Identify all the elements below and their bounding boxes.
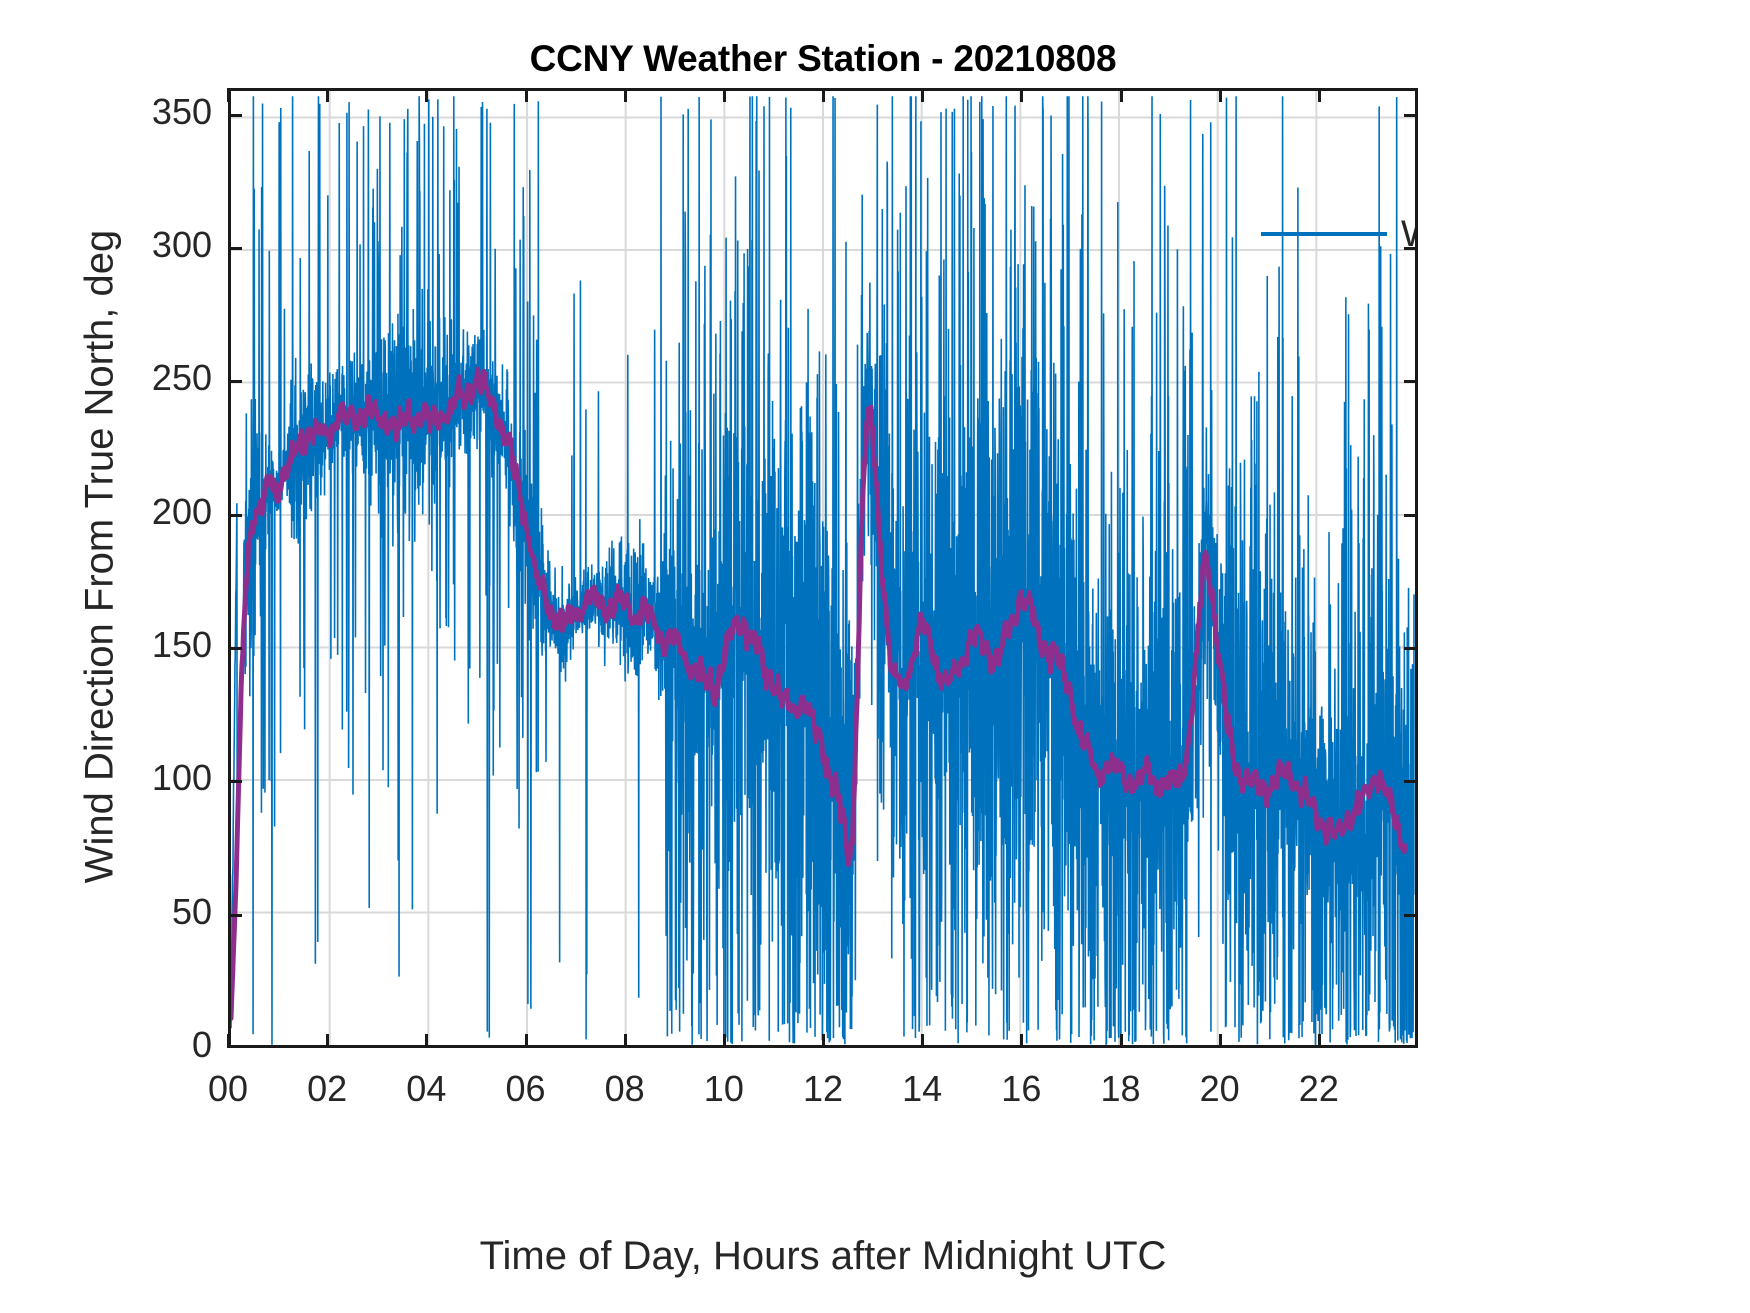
data-layer [231,91,1415,1045]
y-tickmark [228,114,242,117]
y-tickmark [228,514,242,517]
x-tickmark [624,1034,627,1048]
y-tickmark [228,247,242,250]
x-tickmark [822,1034,825,1048]
x-tickmark-top [326,88,329,102]
chart-figure: CCNY Weather Station - 20210808 Wind Dir… [0,0,1750,1313]
x-tickmark-top [1020,88,1023,102]
y-tickmark [228,780,242,783]
y-tickmark-right [1404,114,1418,117]
y-tickmark-right [1404,780,1418,783]
y-tickmark-right [1404,647,1418,650]
x-tick-label: 22 [1259,1068,1379,1110]
y-tickmark-right [1404,380,1418,383]
x-tickmark [723,1034,726,1048]
x-tickmark-top [723,88,726,102]
x-tickmark-top [1120,88,1123,102]
page-title: CCNY Weather Station - 20210808 [228,38,1418,80]
x-tickmark-top [525,88,528,102]
x-tickmark-top [1219,88,1222,102]
y-tickmark-right [1404,914,1418,917]
plot-area: Wind Direction [228,88,1418,1048]
x-tickmark-top [921,88,924,102]
x-tickmark-top [1318,88,1321,102]
y-tickmark-right [1404,514,1418,517]
x-tickmark [1120,1034,1123,1048]
x-tickmark [525,1034,528,1048]
y-tickmark [228,914,242,917]
x-tickmark [1219,1034,1222,1048]
x-tickmark [1020,1034,1023,1048]
x-axis-label: Time of Day, Hours after Midnight UTC [228,1234,1418,1279]
x-tickmark [1318,1034,1321,1048]
y-tickmark-right [1404,247,1418,250]
x-tickmark [425,1034,428,1048]
y-axis-label: Wind Direction From True North, deg [78,77,123,1037]
x-tickmark [326,1034,329,1048]
x-tickmark-top [425,88,428,102]
x-tickmark-top [227,88,230,102]
y-tickmark [228,647,242,650]
y-tickmark [228,380,242,383]
x-tickmark [227,1034,230,1048]
x-tickmark-top [624,88,627,102]
x-tickmark [921,1034,924,1048]
x-tickmark-top [822,88,825,102]
legend-swatch-wind-direction [1261,232,1387,236]
legend: Wind Direction [1261,213,1418,255]
